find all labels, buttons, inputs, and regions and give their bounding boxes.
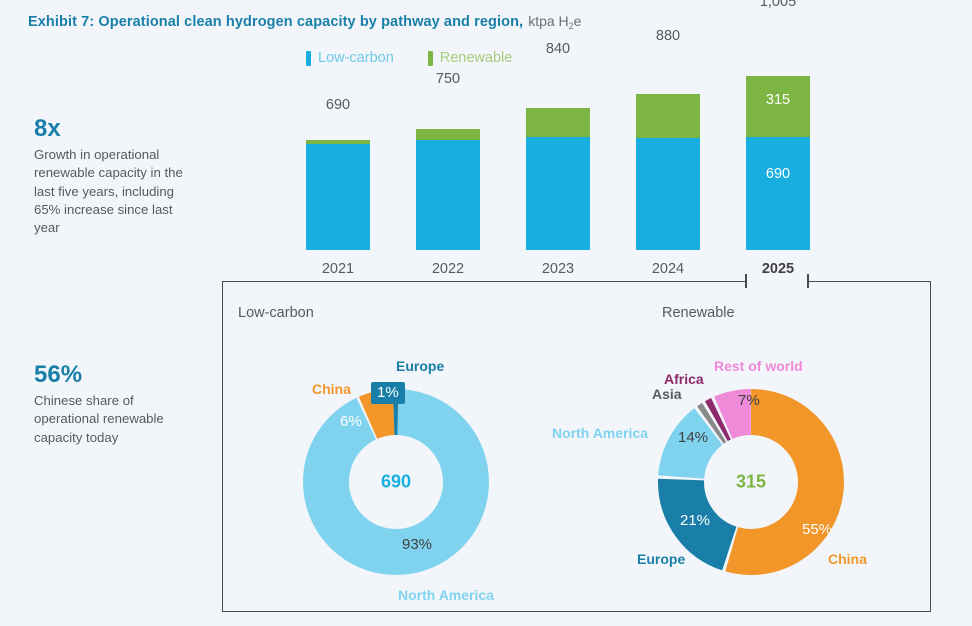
bar-column-2022 [416, 129, 480, 250]
bar-year-label-2023: 2023 [512, 261, 604, 277]
donut-low-carbon-label-north-america: North America [398, 587, 494, 603]
bar-total-2025: 1,005 [732, 0, 824, 10]
bar-column-2024 [636, 94, 700, 250]
bar-segment-renewable-2023 [526, 108, 590, 137]
stacked-bar-chart: 690 2021 750 2022 840 2023 880 [0, 0, 972, 285]
donut-renewable-label-africa: Africa [664, 371, 704, 387]
bar-total-2022: 750 [402, 71, 494, 87]
bar-segment-renewable-2025: 315 [746, 76, 810, 137]
panel-heading-renewable: Renewable [662, 305, 735, 321]
bar-segment-low-carbon-2022 [416, 140, 480, 250]
bar-segment-renewable-2024 [636, 94, 700, 138]
donut-renewable-label-europe: Europe [637, 551, 685, 567]
donut-low-carbon-value-north-america: 93% [402, 536, 432, 553]
callout-china-share: 56% Chinese share of operational renewab… [34, 362, 194, 447]
bar-segment-low-carbon-2025: 690 [746, 137, 810, 250]
donut-low-carbon-label-europe: Europe [396, 358, 444, 374]
donut-renewable-label-north-america: North America [552, 425, 648, 441]
donut-renewable-label-china: China [828, 551, 867, 567]
panel-notch-left-edge [745, 274, 747, 288]
bar-year-label-2024: 2024 [622, 261, 714, 277]
bar-segment-low-carbon-2024 [636, 138, 700, 250]
bar-year-label-2021: 2021 [292, 261, 384, 277]
donut-renewable-value-rest-of-world: 7% [738, 392, 760, 409]
panel-notch-right-edge [807, 274, 809, 288]
donut-low-carbon-value-china: 6% [340, 413, 362, 430]
panel-notch-gap [745, 274, 809, 288]
donut-renewable-value-europe: 21% [680, 512, 710, 529]
bar-column-2025: 315 690 [746, 76, 810, 250]
donut-renewable-label-asia: Asia [652, 386, 682, 402]
bar-total-2021: 690 [292, 97, 384, 113]
donut-chart-renewable: 315 [658, 389, 844, 575]
callout-china-share-text: Chinese share of operational renewable c… [34, 392, 194, 446]
bar-column-2021 [306, 140, 370, 250]
exhibit-root: Exhibit 7: Operational clean hydrogen ca… [0, 0, 972, 626]
bar-column-2023 [526, 108, 590, 250]
donut-low-carbon-center-value: 690 [303, 472, 489, 493]
panel-heading-low-carbon: Low-carbon [238, 305, 314, 321]
bar-segment-renewable-2022 [416, 129, 480, 140]
bar-total-2024: 880 [622, 28, 714, 44]
bar-year-label-2022: 2022 [402, 261, 494, 277]
donut-chart-low-carbon: 690 [303, 389, 489, 575]
donut-low-carbon-value-europe: 1% [371, 382, 405, 404]
bar-segment-label-low-carbon-2025: 690 [746, 166, 810, 182]
bar-segment-low-carbon-2023 [526, 137, 590, 250]
donut-renewable-value-north-america: 14% [678, 429, 708, 446]
callout-china-share-value: 56% [34, 362, 194, 388]
donut-renewable-label-rest-of-world: Rest of world [714, 358, 803, 374]
bar-segment-label-renewable-2025: 315 [746, 92, 810, 108]
donut-renewable-center-value: 315 [658, 472, 844, 493]
donut-renewable-value-china: 55% [802, 521, 832, 538]
bar-total-2023: 840 [512, 41, 604, 57]
donut-low-carbon-label-china: China [312, 381, 351, 397]
bar-segment-low-carbon-2021 [306, 144, 370, 250]
